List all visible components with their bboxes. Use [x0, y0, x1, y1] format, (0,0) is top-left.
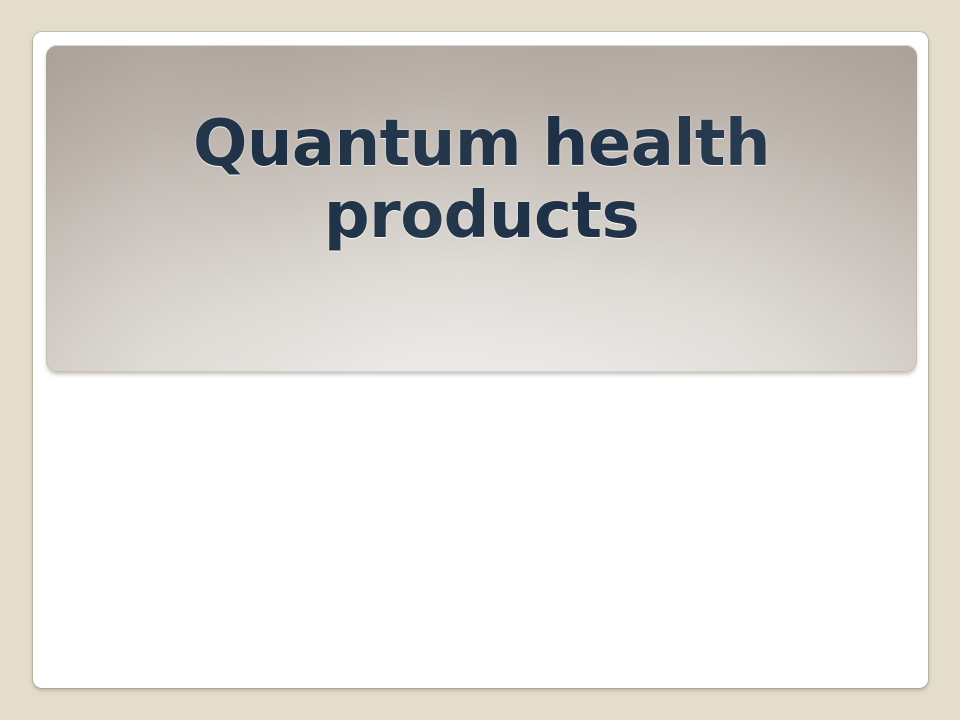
title-text-wrapper: Quantum healthproducts — [46, 45, 917, 372]
title-placeholder-plate[interactable]: Quantum healthproducts — [46, 45, 917, 372]
title-line-2: products — [324, 179, 639, 253]
title-line-1: Quantum health — [193, 107, 770, 181]
slide-card: Quantum healthproducts — [33, 32, 928, 688]
page-title: Quantum healthproducts — [162, 109, 802, 252]
slide-canvas: Quantum healthproducts — [0, 0, 960, 720]
slide-body-placeholder[interactable] — [46, 380, 917, 676]
